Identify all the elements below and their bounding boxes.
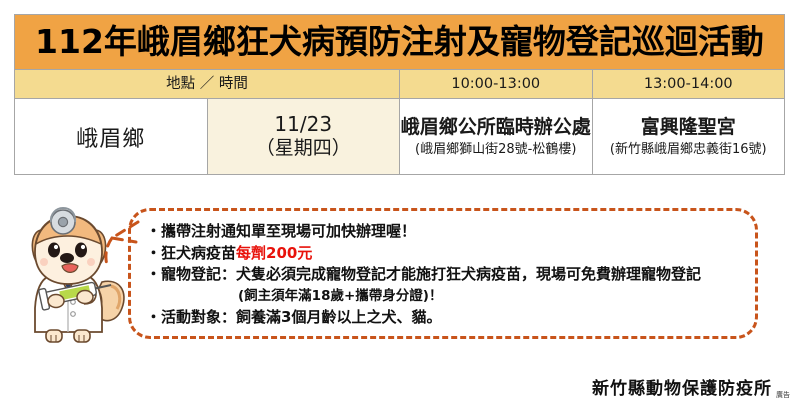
note-text-3: 寵物登記：犬隻必須完成寵物登記才能施打狂犬病疫苗，現場可免費辦理寵物登記 — [161, 265, 701, 283]
venue-address-slot-1: (峨眉鄉獅山街28號-松鶴樓) — [400, 141, 592, 159]
dog-doctor-mascot-icon — [16, 196, 136, 346]
note-line-5: ・活動對象：飼養滿3個月齡以上之犬、貓。 — [146, 307, 754, 329]
column-header-place-time: 地點 ／ 時間 — [15, 70, 400, 99]
cell-venue-slot-1: 峨眉鄉公所臨時辦公處 (峨眉鄉獅山街28號-松鶴樓) — [400, 99, 593, 175]
column-header-slot-2: 13:00-14:00 — [592, 70, 785, 99]
note-text-5: 活動對象：飼養滿3個月齡以上之犬、貓。 — [161, 308, 441, 326]
schedule-header-row: 地點 ／ 時間 10:00-13:00 13:00-14:00 — [15, 70, 785, 99]
weekday-value: （星期四） — [208, 137, 400, 161]
note-line-1: ・攜帶注射通知單至現場可加快辦理喔！ — [146, 221, 754, 243]
column-header-slot-1: 10:00-13:00 — [400, 70, 593, 99]
cell-date: 11/23 （星期四） — [207, 99, 400, 175]
note-text-2-prefix: 狂犬病疫苗 — [161, 244, 236, 262]
bullet-icon: ・ — [146, 265, 161, 283]
place-name: 峨眉鄉 — [15, 121, 207, 153]
bullet-icon: ・ — [146, 222, 161, 240]
title-row: 112年峨眉鄉狂犬病預防注射及寵物登記巡迴活動 — [15, 15, 785, 70]
note-text-2-price: 每劑200元 — [236, 244, 312, 262]
cell-venue-slot-2: 富興隆聖宮 (新竹縣峨眉鄉忠義街16號) — [592, 99, 785, 175]
notes-content: ・攜帶注射通知單至現場可加快辦理喔！ ・狂犬病疫苗每劑200元 ・寵物登記：犬隻… — [142, 215, 754, 333]
bullet-icon: ・ — [146, 308, 161, 326]
poster-title: 112年峨眉鄉狂犬病預防注射及寵物登記巡迴活動 — [15, 15, 785, 70]
note-text-1: 攜帶注射通知單至現場可加快辦理喔！ — [161, 222, 416, 240]
venue-name-slot-2: 富興隆聖宮 — [593, 115, 785, 141]
note-text-4: (飼主須年滿18歲+攜帶身分證)！ — [238, 288, 442, 304]
date-value: 11/23 — [208, 112, 400, 137]
footer-ad-mark: 廣告 — [776, 390, 790, 400]
table-row: 峨眉鄉 11/23 （星期四） 峨眉鄉公所臨時辦公處 (峨眉鄉獅山街28號-松鶴… — [15, 99, 785, 175]
note-line-2: ・狂犬病疫苗每劑200元 — [146, 243, 754, 265]
note-line-4: (飼主須年滿18歲+攜帶身分證)！ — [146, 286, 754, 308]
bullet-icon: ・ — [146, 244, 161, 262]
footer-organization: 新竹縣動物保護防疫所 — [592, 374, 772, 399]
schedule-table: 112年峨眉鄉狂犬病預防注射及寵物登記巡迴活動 地點 ／ 時間 10:00-13… — [14, 14, 785, 175]
venue-name-slot-1: 峨眉鄉公所臨時辦公處 — [400, 115, 592, 141]
note-line-3: ・寵物登記：犬隻必須完成寵物登記才能施打狂犬病疫苗，現場可免費辦理寵物登記 — [146, 264, 754, 286]
venue-address-slot-2: (新竹縣峨眉鄉忠義街16號) — [593, 141, 785, 159]
cell-place: 峨眉鄉 — [15, 99, 208, 175]
